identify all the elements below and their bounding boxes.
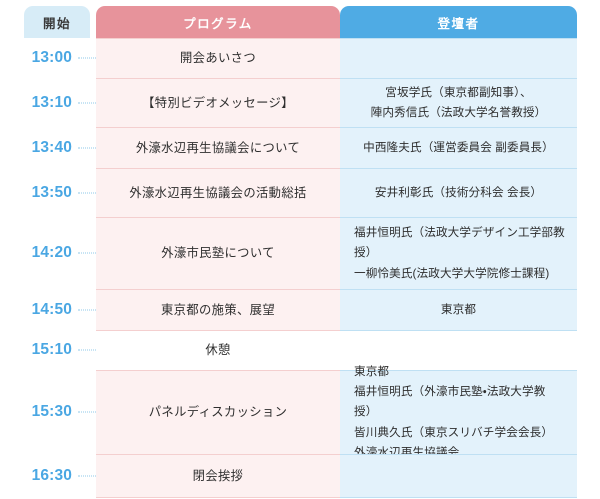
program-text: 外濠水辺再生協議会の活動総括 [129, 183, 306, 203]
row-right-spacer [577, 168, 600, 217]
row-right-spacer [577, 454, 600, 497]
program-text: 外濠市民塾について [161, 243, 275, 263]
dotted-connector-icon [78, 309, 96, 310]
cell-start-time: 15:10 [0, 330, 96, 370]
row-right-spacer [577, 217, 600, 289]
cell-program: 開会あいさつ [96, 38, 340, 78]
program-text: 開会あいさつ [180, 48, 256, 68]
cell-program: パネルディスカッション [96, 370, 340, 454]
cell-start-time: 13:40 [0, 127, 96, 168]
program-text: 閉会挨拶 [193, 466, 244, 486]
row-right-spacer [577, 78, 600, 127]
cell-start-time: 14:50 [0, 289, 96, 330]
row-right-spacer [577, 330, 600, 370]
program-text: 休憩 [205, 340, 230, 360]
cell-start-time: 13:10 [0, 78, 96, 127]
speaker-text: 東京都 [441, 300, 476, 320]
cell-start-time: 13:00 [0, 38, 96, 78]
cell-program: 外濠市民塾について [96, 217, 340, 289]
cell-start-time: 16:30 [0, 454, 96, 497]
column-header-speaker: 登壇者 [340, 6, 577, 38]
speaker-text: 東京都 福井恒明氏（外濠市民塾・法政大学教授） 皆川典久氏（東京スリバチ学会会長… [350, 362, 567, 463]
row-right-spacer [577, 38, 600, 78]
speaker-text: 安井利彰氏（技術分科会 会長） [375, 183, 542, 203]
dotted-connector-icon [78, 412, 96, 413]
cell-program: 外濠水辺再生協議会について [96, 127, 340, 168]
column-header-program: プログラム [96, 6, 340, 38]
cell-speaker [340, 38, 577, 78]
dotted-connector-icon [78, 147, 96, 148]
cell-program: 東京都の施策、展望 [96, 289, 340, 330]
row-right-spacer [577, 127, 600, 168]
cell-start-time: 15:30 [0, 370, 96, 454]
cell-program: 休憩 [96, 330, 340, 370]
speaker-text: 福井恒明氏（法政大学デザイン工学部教授） 一柳怜美氏(法政大学大学院修士課程) [350, 223, 567, 284]
event-schedule-table: 開始 プログラム 登壇者 13:00開会あいさつ13:10【特別ビデオメッセージ… [0, 0, 600, 485]
table-row: 13:00開会あいさつ [0, 38, 600, 78]
table-body: 13:00開会あいさつ13:10【特別ビデオメッセージ】宮坂学氏（東京都副知事）… [0, 38, 600, 499]
table-header-row: 開始 プログラム 登壇者 [0, 6, 600, 38]
program-text: 東京都の施策、展望 [161, 300, 275, 320]
dotted-connector-icon [78, 475, 96, 476]
row-right-spacer [577, 289, 600, 330]
table-row: 13:50外濠水辺再生協議会の活動総括安井利彰氏（技術分科会 会長） [0, 168, 600, 217]
speaker-text: 宮坂学氏（東京都副知事）、 陣内秀信氏（法政大学名誉教授） [371, 83, 547, 124]
dotted-connector-icon [78, 350, 96, 351]
column-header-start: 開始 [24, 6, 90, 38]
table-row: 14:50東京都の施策、展望東京都 [0, 289, 600, 330]
cell-program: 外濠水辺再生協議会の活動総括 [96, 168, 340, 217]
program-text: パネルディスカッション [149, 402, 287, 422]
cell-speaker: 福井恒明氏（法政大学デザイン工学部教授） 一柳怜美氏(法政大学大学院修士課程) [340, 217, 577, 289]
cell-speaker: 宮坂学氏（東京都副知事）、 陣内秀信氏（法政大学名誉教授） [340, 78, 577, 127]
speaker-text: 中西隆夫氏（運営委員会 副委員長） [363, 138, 554, 158]
table-row: 16:30閉会挨拶 [0, 454, 600, 497]
cell-speaker: 東京都 [340, 289, 577, 330]
cell-program: 閉会挨拶 [96, 454, 340, 497]
table-row: 13:10【特別ビデオメッセージ】宮坂学氏（東京都副知事）、 陣内秀信氏（法政大… [0, 78, 600, 127]
dotted-connector-icon [78, 253, 96, 254]
table-row: 13:40外濠水辺再生協議会について中西隆夫氏（運営委員会 副委員長） [0, 127, 600, 168]
program-text: 【特別ビデオメッセージ】 [142, 93, 294, 113]
cell-start-time: 13:50 [0, 168, 96, 217]
table-row: 15:30パネルディスカッション東京都 福井恒明氏（外濠市民塾・法政大学教授） … [0, 370, 600, 454]
cell-speaker: 中西隆夫氏（運営委員会 副委員長） [340, 127, 577, 168]
table-row: 14:20外濠市民塾について福井恒明氏（法政大学デザイン工学部教授） 一柳怜美氏… [0, 217, 600, 289]
dotted-connector-icon [78, 102, 96, 103]
cell-speaker [340, 454, 577, 497]
dotted-connector-icon [78, 58, 96, 59]
program-text: 外濠水辺再生協議会について [136, 138, 300, 158]
foot-rest [577, 497, 600, 498]
foot-time [0, 497, 96, 498]
cell-speaker: 安井利彰氏（技術分科会 会長） [340, 168, 577, 217]
row-right-spacer [577, 370, 600, 454]
cell-program: 【特別ビデオメッセージ】 [96, 78, 340, 127]
cell-speaker: 東京都 福井恒明氏（外濠市民塾・法政大学教授） 皆川典久氏（東京スリバチ学会会長… [340, 370, 577, 454]
cell-start-time: 14:20 [0, 217, 96, 289]
dotted-connector-icon [78, 192, 96, 193]
